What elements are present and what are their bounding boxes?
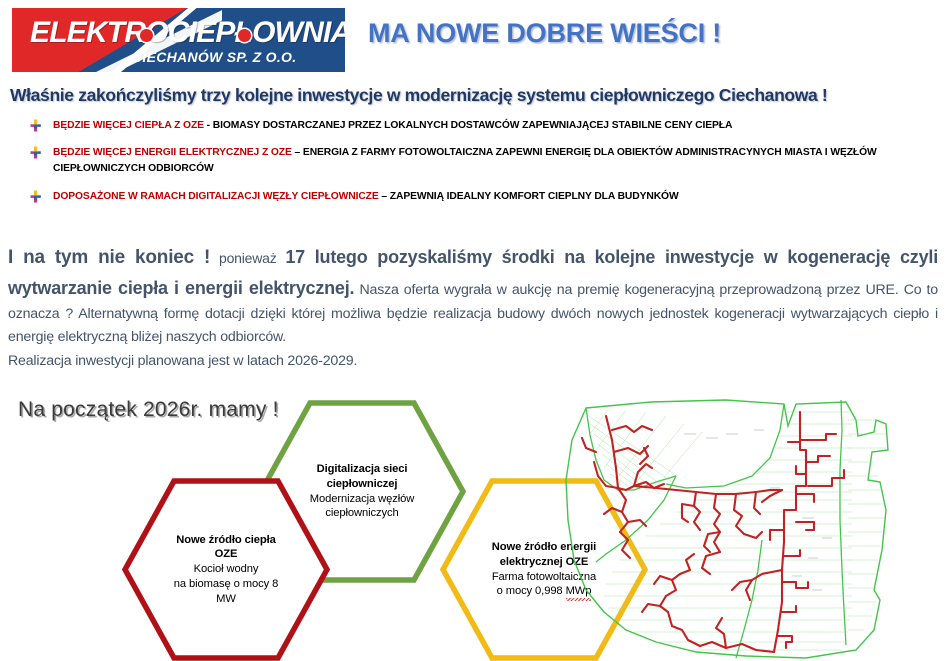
page-header: ELEKTROCIEPŁOWNIA CIECHANÓW SP. Z O.O. M…: [0, 0, 946, 78]
paragraph-last-line: Realizacja inwestycji planowana jest w l…: [8, 350, 938, 373]
main-paragraph: I na tym nie koniec ! ponieważ 17 lutego…: [8, 243, 938, 373]
paragraph-lead: I na tym nie koniec !: [8, 247, 210, 268]
district-heating-network-map[interactable]: [556, 390, 946, 661]
bullet-rest: – ZAPEWNIĄ IDEALNY KOMFORT CIEPLNY DLA B…: [379, 191, 679, 202]
arrow-bullet-icon: [30, 119, 43, 132]
arrow-bullet-icon: [30, 146, 43, 159]
bullet-list: BĘDZIE WIĘCEJ CIEPŁA Z OZE - BIOMASY DOS…: [30, 118, 940, 216]
bottom-caption: Na początek 2026r. mamy !: [18, 398, 279, 422]
logo-company-subtitle: CIECHANÓW SP. Z O.O.: [132, 49, 296, 65]
logo-company-name: ELEKTROCIEPŁOWNIA: [30, 18, 340, 48]
bullet-highlight: DOPOSAŻONE W RAMACH DIGITALIZACJI WĘZŁY …: [53, 191, 379, 202]
company-logo: ELEKTROCIEPŁOWNIA CIECHANÓW SP. Z O.O.: [12, 8, 345, 72]
logo-dot-o2: [238, 29, 251, 42]
bullet-highlight: BĘDZIE WIĘCEJ ENERGII ELEKTRYCZNEJ Z OZE: [53, 147, 292, 158]
list-item: BĘDZIE WIĘCEJ CIEPŁA Z OZE - BIOMASY DOS…: [30, 118, 940, 134]
list-item: BĘDZIE WIĘCEJ ENERGII ELEKTRYCZNEJ Z OZE…: [30, 145, 940, 177]
page-headline: MA NOWE DOBRE WIEŚCI !: [368, 18, 721, 49]
bullet-rest: - BIOMASY DOSTARCZANEJ PRZEZ LOKALNYCH D…: [204, 120, 732, 131]
logo-dot-o1: [140, 29, 153, 42]
page-subheading: Właśnie zakończyliśmy trzy kolejne inwes…: [10, 85, 827, 106]
hexagon-heat-source[interactable]: Nowe źródło ciepła OZE Kocioł wodny na b…: [122, 478, 330, 661]
arrow-bullet-icon: [30, 190, 43, 203]
list-item: DOPOSAŻONE W RAMACH DIGITALIZACJI WĘZŁY …: [30, 189, 940, 205]
bullet-highlight: BĘDZIE WIĘCEJ CIEPŁA Z OZE: [53, 120, 204, 131]
paragraph-connector: ponieważ: [219, 250, 277, 266]
